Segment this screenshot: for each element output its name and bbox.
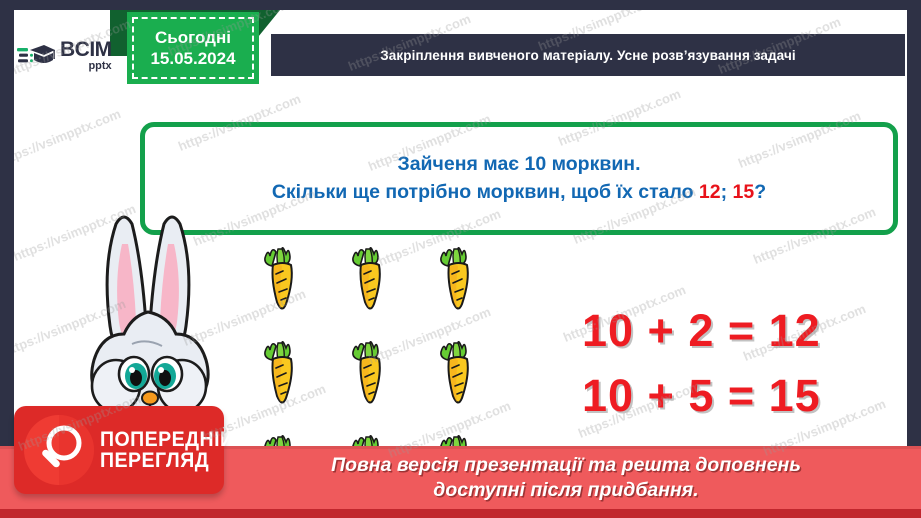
promo-line-1: Повна версія презентації та решта доповн… xyxy=(236,453,896,478)
magnifier-icon xyxy=(20,411,98,489)
preview-badge[interactable]: ПОПЕРЕДНІЙ ПЕРЕГЛЯД xyxy=(14,406,224,494)
brand-logo: BCIM pptx xyxy=(16,32,126,78)
header-title: Закріплення вивченого матеріалу. Усне ро… xyxy=(380,48,796,63)
preview-badge-line-2: ПЕРЕГЛЯД xyxy=(100,450,234,471)
date-badge-label: Сьогодні xyxy=(155,27,231,48)
promo-text: Повна версія презентації та решта доповн… xyxy=(236,453,896,504)
question-line-2-end: ? xyxy=(754,181,766,203)
question-box: Зайченя має 10 морквин. Скільки ще потрі… xyxy=(140,122,898,235)
carrot-icon xyxy=(260,340,306,410)
question-number-first: 12 xyxy=(699,181,721,203)
preview-badge-text: ПОПЕРЕДНІЙ ПЕРЕГЛЯД xyxy=(100,429,245,472)
question-line-2-text: Скільки ще потрібно морквин, щоб їх стал… xyxy=(272,181,699,203)
brand-name: BCIM xyxy=(60,39,112,60)
question-line-2: Скільки ще потрібно морквин, щоб їх стал… xyxy=(272,179,766,207)
carrot-icon xyxy=(436,340,482,410)
carrot-icon xyxy=(348,246,394,316)
watermark-text: https://vsimpptx.com xyxy=(14,106,123,169)
date-badge-value: 15.05.2024 xyxy=(150,48,235,69)
brand-wordmark: BCIM pptx xyxy=(60,39,112,72)
promo-line-2: доступні після придбання. xyxy=(236,478,896,503)
question-number-second: 15 xyxy=(733,181,755,203)
carrot-icon xyxy=(436,246,482,316)
preview-badge-line-1: ПОПЕРЕДНІЙ xyxy=(100,429,234,450)
header-bar: Закріплення вивченого матеріалу. Усне ро… xyxy=(269,32,907,78)
equations-block: 10 + 2 = 12 10 + 5 = 15 xyxy=(582,298,872,429)
slide-canvas: BCIM pptx Закріплення вивченого матеріал… xyxy=(0,0,921,518)
equation-1: 10 + 2 = 12 xyxy=(582,298,872,363)
brand-sub: pptx xyxy=(60,61,112,72)
question-number-sep: ; xyxy=(721,181,733,203)
promo-bottom-strip xyxy=(0,509,921,518)
carrot-icon xyxy=(348,340,394,410)
graduation-cap-icon xyxy=(16,40,56,70)
today-date-badge: Сьогодні 15.05.2024 xyxy=(127,12,259,84)
carrot-icon xyxy=(260,246,306,316)
question-line-1: Зайченя має 10 морквин. xyxy=(397,151,640,179)
equation-2: 10 + 5 = 15 xyxy=(582,363,872,428)
